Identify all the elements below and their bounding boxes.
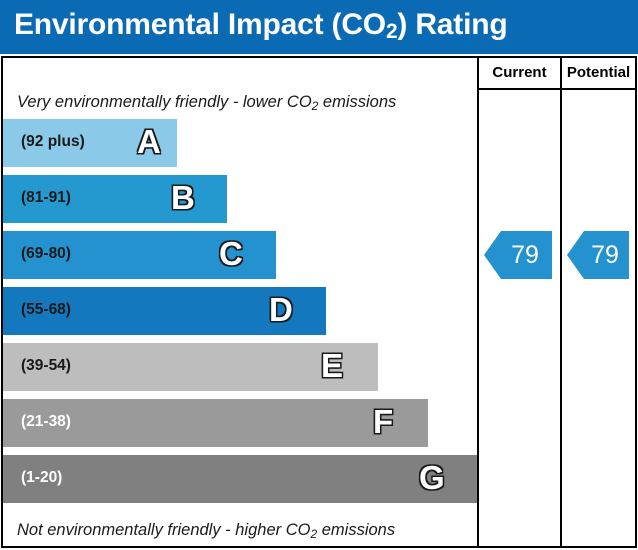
rating-band-list: (92 plus) A (81-91) B (69-80) C (55-68) … xyxy=(3,118,477,516)
band-row-d: (55-68) D xyxy=(3,286,477,336)
header-underline xyxy=(477,88,635,90)
band-bar-g xyxy=(3,455,477,503)
current-rating-arrow: 79 xyxy=(484,231,552,279)
band-letter-b: B xyxy=(171,174,195,222)
band-row-f: (21-38) F xyxy=(3,398,477,448)
band-letter-a: A xyxy=(137,118,161,166)
band-range-a: (92 plus) xyxy=(21,118,85,166)
page-title: Environmental Impact (CO2) Rating xyxy=(14,8,507,42)
table-header-row: Current Potential xyxy=(3,58,635,88)
column-divider-current xyxy=(477,58,479,546)
potential-rating-value: 79 xyxy=(577,243,619,268)
band-range-e: (39-54) xyxy=(21,342,71,390)
band-letter-f: F xyxy=(373,398,393,446)
page-title-suffix: ) Rating xyxy=(397,8,507,41)
caption-top-subscript: 2 xyxy=(312,99,319,113)
caption-not-friendly: Not environmentally friendly - higher CO… xyxy=(3,516,477,544)
band-row-a: (92 plus) A xyxy=(3,118,477,168)
caption-bottom-prefix: Not environmentally friendly - higher CO xyxy=(17,521,310,539)
chart-title-bar: Environmental Impact (CO2) Rating xyxy=(0,0,638,54)
column-divider-potential xyxy=(560,58,562,546)
column-header-potential: Potential xyxy=(562,58,635,88)
caption-very-friendly: Very environmentally friendly - lower CO… xyxy=(3,88,477,116)
band-range-f: (21-38) xyxy=(21,398,71,446)
band-letter-e: E xyxy=(321,342,343,390)
band-letter-g: G xyxy=(419,454,445,502)
caption-bottom-suffix: emissions xyxy=(317,521,395,539)
band-range-g: (1-20) xyxy=(21,454,62,502)
band-row-g: (1-20) G xyxy=(3,454,477,504)
potential-rating-arrow: 79 xyxy=(567,231,629,279)
page-title-prefix: Environmental Impact (CO xyxy=(14,8,386,41)
band-row-b: (81-91) B xyxy=(3,174,477,224)
band-row-e: (39-54) E xyxy=(3,342,477,392)
column-header-current: Current xyxy=(479,58,560,88)
page-title-subscript: 2 xyxy=(386,20,397,43)
band-range-c: (69-80) xyxy=(21,230,71,278)
band-letter-d: D xyxy=(269,286,293,334)
band-range-b: (81-91) xyxy=(21,174,71,222)
band-letter-c: C xyxy=(219,230,243,278)
caption-bottom-subscript: 2 xyxy=(310,527,317,541)
current-rating-value: 79 xyxy=(497,243,539,268)
rating-table: Current Potential Very environmentally f… xyxy=(1,56,637,548)
epc-environmental-impact-chart: Environmental Impact (CO2) Rating Curren… xyxy=(0,0,638,550)
band-range-d: (55-68) xyxy=(21,286,71,334)
caption-top-prefix: Very environmentally friendly - lower CO xyxy=(17,93,312,111)
band-row-c: (69-80) C xyxy=(3,230,477,280)
caption-top-suffix: emissions xyxy=(318,93,396,111)
